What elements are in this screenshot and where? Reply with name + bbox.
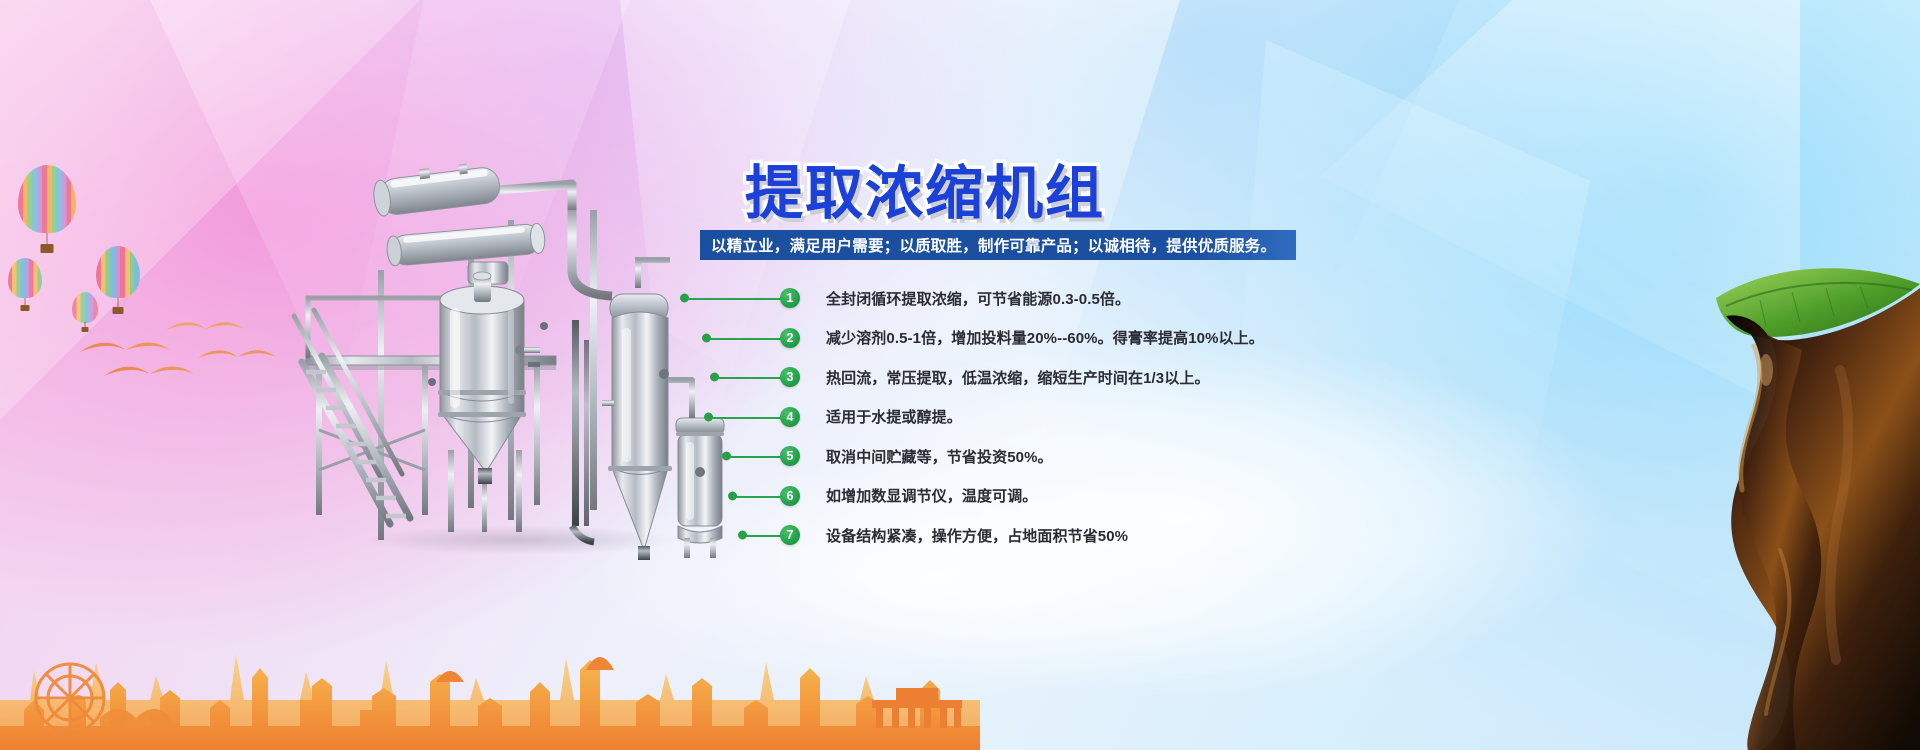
- list-item: 7 设备结构紧凑，操作方便，占地面积节省50%: [680, 520, 1380, 550]
- list-item-number: 6: [780, 486, 800, 506]
- list-item-number: 1: [780, 288, 800, 308]
- list-item: 6 如增加数显调节仪，温度可调。: [680, 481, 1380, 511]
- connector-line: [688, 298, 786, 300]
- list-item-number: 5: [780, 446, 800, 466]
- list-item-number: 7: [780, 525, 800, 545]
- list-item-number: 2: [780, 328, 800, 348]
- page-title: 提取浓缩机组: [745, 146, 1105, 230]
- list-item: 3 热回流，常压提取，低温浓缩，缩短生产时间在1/3以上。: [680, 362, 1380, 392]
- connector-line: [736, 496, 786, 498]
- list-item: 1 全封闭循环提取浓缩，可节省能源0.3-0.5倍。: [680, 283, 1380, 313]
- connector-line: [718, 377, 786, 379]
- list-item-label: 设备结构紧凑，操作方便，占地面积节省50%: [826, 525, 1128, 546]
- slogan-text: 以精立业，满足用户需要；以质取胜，制作可靠产品；以诚相待，提供优质服务。: [700, 234, 1276, 256]
- list-item: 2 减少溶剂0.5-1倍，增加投料量20%--60%。得膏率提高10%以上。: [680, 323, 1380, 353]
- list-item-label: 取消中间贮藏等，节省投资50%。: [826, 446, 1053, 467]
- list-item-label: 全封闭循环提取浓缩，可节省能源0.3-0.5倍。: [826, 288, 1130, 309]
- list-item-label: 如增加数显调节仪，温度可调。: [826, 485, 1037, 506]
- list-item-number: 3: [780, 367, 800, 387]
- connector-line: [730, 456, 786, 458]
- connector-line: [710, 338, 786, 340]
- list-item: 5 取消中间贮藏等，节省投资50%。: [680, 441, 1380, 471]
- list-item-label: 减少溶剂0.5-1倍，增加投料量20%--60%。得膏率提高10%以上。: [826, 327, 1264, 348]
- connector-line: [712, 417, 786, 419]
- slogan-bar: 以精立业，满足用户需要；以质取胜，制作可靠产品；以诚相待，提供优质服务。: [700, 230, 1296, 260]
- list-item-number: 4: [780, 407, 800, 427]
- list-item-label: 适用于水提或醇提。: [826, 406, 962, 427]
- promotional-banner: 提取浓缩机组 提取浓缩机组 以精立业，满足用户需要；以质取胜，制作可靠产品；以诚…: [0, 0, 1920, 750]
- list-item: 4 适用于水提或醇提。: [680, 402, 1380, 432]
- list-item-label: 热回流，常压提取，低温浓缩，缩短生产时间在1/3以上。: [826, 367, 1210, 388]
